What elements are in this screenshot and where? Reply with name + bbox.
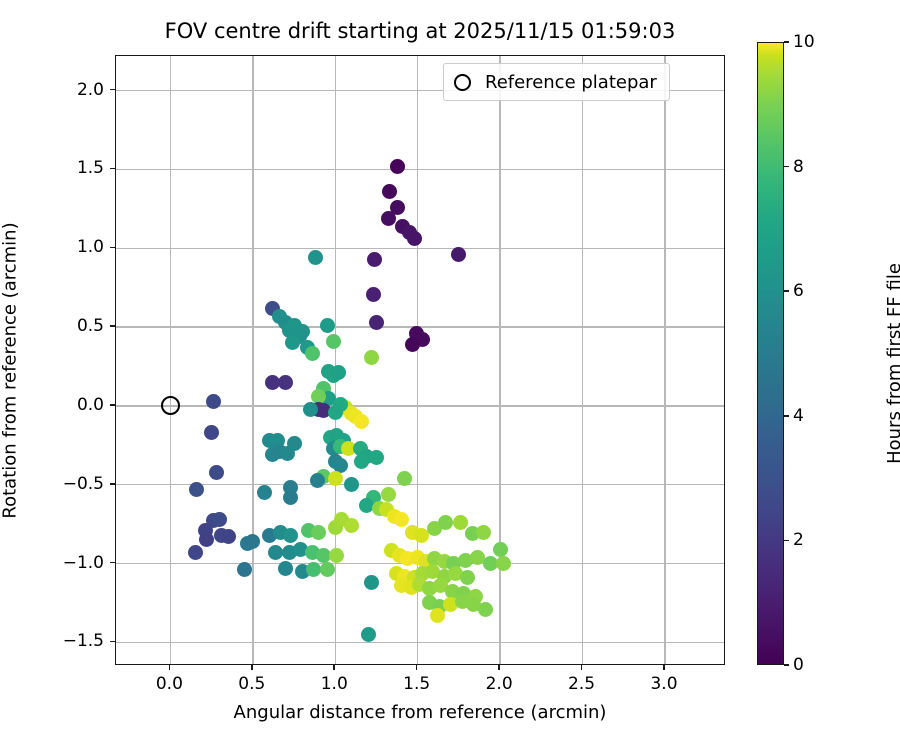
scatter-point [361, 627, 376, 642]
x-tick-mark [333, 665, 335, 670]
scatter-point [285, 335, 300, 350]
y-tick-label: 1.5 [20, 158, 104, 178]
x-axis-label: Angular distance from reference (arcmin) [115, 702, 725, 723]
colorbar-label: Hours from first FF file [884, 52, 900, 675]
scatter-point [451, 247, 466, 262]
scatter-point [328, 471, 343, 486]
colorbar-tick-mark [784, 166, 789, 168]
scatter-point [311, 525, 326, 540]
scatter-point [394, 512, 409, 527]
scatter-point [354, 454, 369, 469]
scatter-point [381, 487, 396, 502]
scatter-point [320, 318, 335, 333]
scatter-point [188, 545, 203, 560]
scatter-point [390, 159, 405, 174]
plot-area [115, 55, 725, 665]
scatter-point [364, 575, 379, 590]
x-tick-label: 1.0 [304, 674, 364, 694]
colorbar-tick-mark [784, 540, 789, 542]
colorbar-tick-label: 2 [793, 530, 804, 550]
page-title: FOV centre drift starting at 2025/11/15 … [115, 18, 725, 44]
y-tick-mark [110, 325, 115, 327]
scatter-point [280, 446, 295, 461]
gridline-vertical [499, 56, 500, 664]
scatter-point [237, 562, 252, 577]
gridline-vertical [170, 56, 171, 664]
x-tick-label: 0.5 [222, 674, 282, 694]
y-tick-label: 0.5 [20, 316, 104, 336]
scatter-point [367, 252, 382, 267]
scatter-point [331, 365, 346, 380]
gridline-vertical [252, 56, 253, 664]
x-tick-mark [581, 665, 583, 670]
scatter-point [478, 602, 493, 617]
scatter-point [493, 542, 508, 557]
scatter-point [189, 482, 204, 497]
y-tick-mark [110, 641, 115, 643]
scatter-point [496, 556, 511, 571]
scatter-point [245, 534, 260, 549]
gridline-horizontal [116, 169, 724, 170]
legend-entry-label: Reference platepar [485, 72, 657, 93]
scatter-point [283, 528, 298, 543]
scatter-point [366, 287, 381, 302]
y-tick-mark [110, 483, 115, 485]
y-tick-label: −1.0 [20, 553, 104, 573]
x-tick-mark [251, 665, 253, 670]
scatter-point [328, 405, 343, 420]
scatter-point [310, 473, 325, 488]
colorbar-tick-label: 0 [793, 655, 804, 675]
x-tick-label: 2.5 [552, 674, 612, 694]
y-tick-label: −0.5 [20, 474, 104, 494]
colorbar-tick-mark [784, 290, 789, 292]
gridline-horizontal [116, 248, 724, 249]
gridline-horizontal [116, 484, 724, 485]
scatter-point [407, 231, 422, 246]
scatter-point [369, 450, 384, 465]
x-tick-mark [169, 665, 171, 670]
scatter-point [476, 525, 491, 540]
scatter-point [305, 346, 320, 361]
legend: Reference platepar [443, 63, 670, 101]
colorbar-tick-label: 8 [793, 157, 804, 177]
scatter-point [278, 561, 293, 576]
scatter-point [212, 512, 227, 527]
scatter-point [438, 515, 453, 530]
colorbar-tick-label: 10 [793, 32, 815, 52]
scatter-point [199, 532, 214, 547]
scatter-point [308, 250, 323, 265]
scatter-point [320, 562, 335, 577]
scatter-point [354, 414, 369, 429]
scatter-point [430, 608, 445, 623]
scatter-point [204, 425, 219, 440]
colorbar-gradient [757, 42, 784, 665]
scatter-point [382, 184, 397, 199]
x-tick-mark [663, 665, 665, 670]
gridline-vertical [582, 56, 583, 664]
scatter-point [303, 402, 318, 417]
scatter-point [257, 485, 272, 500]
scatter-point [206, 394, 221, 409]
colorbar-tick-mark [784, 41, 789, 43]
x-tick-label: 2.0 [469, 674, 529, 694]
reference-platepar-point [161, 396, 180, 415]
scatter-point [329, 548, 344, 563]
colorbar-tick-label: 6 [793, 281, 804, 301]
y-tick-label: 0.0 [20, 395, 104, 415]
y-tick-mark [110, 89, 115, 91]
reference-platepar-marker-icon [454, 74, 471, 91]
x-tick-mark [416, 665, 418, 670]
gridline-horizontal [116, 642, 724, 643]
x-tick-mark [498, 665, 500, 670]
y-tick-mark [110, 404, 115, 406]
scatter-point [344, 518, 359, 533]
scatter-point [221, 529, 236, 544]
scatter-point [369, 315, 384, 330]
y-tick-label: −1.5 [20, 631, 104, 651]
colorbar-tick-mark [784, 415, 789, 417]
y-tick-mark [110, 168, 115, 170]
scatter-point [209, 465, 224, 480]
x-tick-label: 1.5 [387, 674, 447, 694]
scatter-point [278, 375, 293, 390]
scatter-point [326, 334, 341, 349]
gridline-vertical [335, 56, 336, 664]
scatter-point [364, 350, 379, 365]
y-tick-mark [110, 562, 115, 564]
x-tick-label: 3.0 [634, 674, 694, 694]
scatter-point [381, 211, 396, 226]
colorbar-tick-label: 4 [793, 406, 804, 426]
x-tick-label: 0.0 [139, 674, 199, 694]
y-tick-label: 2.0 [20, 80, 104, 100]
y-tick-mark [110, 247, 115, 249]
scatter-point [397, 471, 412, 486]
figure-canvas: FOV centre drift starting at 2025/11/15 … [0, 0, 900, 750]
y-tick-label: 1.0 [20, 237, 104, 257]
scatter-point [283, 490, 298, 505]
colorbar-tick-mark [784, 664, 789, 666]
y-axis-label: Rotation from reference (arcmin) [0, 66, 21, 676]
scatter-point [460, 570, 475, 585]
scatter-point [344, 477, 359, 492]
gridline-vertical [664, 56, 665, 664]
